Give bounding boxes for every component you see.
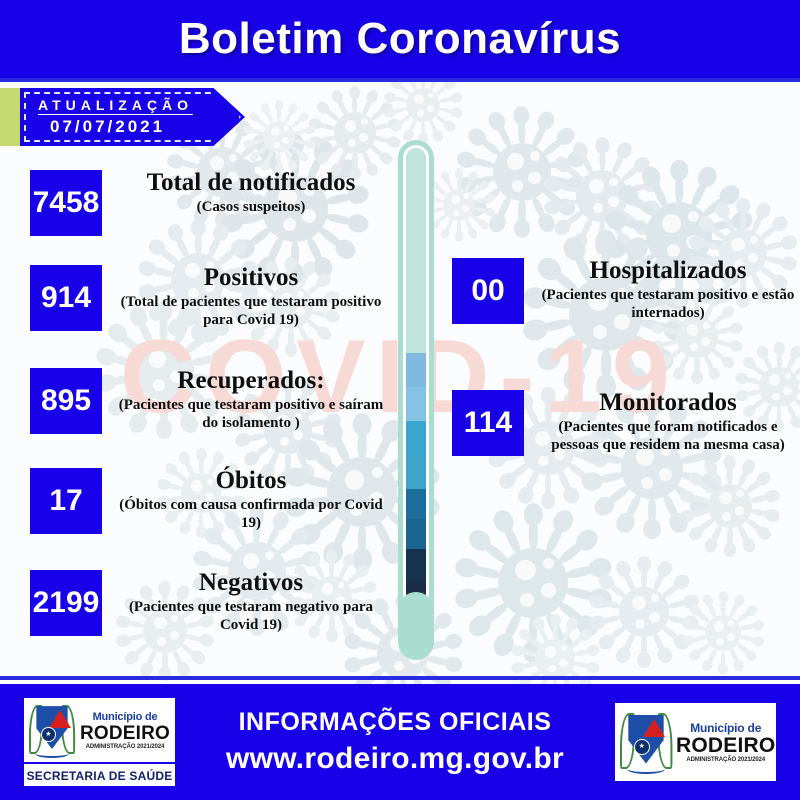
star-icon: ★ bbox=[41, 727, 56, 742]
update-badge-accent-bar bbox=[0, 88, 20, 146]
virus-particle-icon bbox=[470, 520, 596, 646]
thermometer-bulb bbox=[398, 592, 434, 660]
stat-value: 895 bbox=[30, 368, 102, 434]
page-title: Boletim Coronavírus bbox=[179, 14, 621, 64]
stat-label: Hospitalizados bbox=[538, 258, 798, 284]
stat-sublabel: (Total de pacientes que testaram positiv… bbox=[116, 294, 386, 329]
virus-particle-icon bbox=[318, 96, 392, 170]
virus-particle-icon bbox=[690, 466, 770, 546]
star-icon: ★ bbox=[634, 739, 651, 756]
logo-municipio-rodeiro: ★ Município de RODEIRO ADMINISTRAÇÃO 202… bbox=[613, 701, 778, 783]
stat-sublabel: (Casos suspeitos) bbox=[116, 199, 386, 217]
footer-website-url[interactable]: www.rodeiro.mg.gov.br bbox=[177, 741, 613, 777]
coat-of-arms-icon: ★ bbox=[620, 710, 672, 776]
stat-label: Total de notificados bbox=[116, 170, 386, 196]
stat-value: 114 bbox=[452, 390, 524, 456]
stat-value: 00 bbox=[452, 258, 524, 324]
header-bar: Boletim Coronavírus bbox=[0, 0, 800, 78]
stat-sublabel: (Pacientes que foram notificados e pesso… bbox=[538, 419, 798, 454]
stat-label: Óbitos bbox=[116, 468, 386, 494]
stat-recuperados: 895 Recuperados: (Pacientes que testaram… bbox=[30, 368, 386, 434]
thermometer-fill-light bbox=[406, 148, 426, 353]
logo-municipio-label: Município de bbox=[676, 722, 775, 734]
update-date: 07/07/2021 bbox=[38, 118, 165, 137]
thermometer-segment bbox=[406, 455, 426, 489]
header-divider bbox=[0, 78, 800, 82]
logo-city-name: RODEIRO bbox=[79, 724, 171, 743]
footer-bar: ★ Município de RODEIRO ADMINISTRAÇÃO 202… bbox=[0, 684, 800, 800]
triangle-icon bbox=[643, 719, 665, 737]
thermometer-segment bbox=[406, 489, 426, 519]
coat-of-arms-icon: ★ bbox=[29, 702, 75, 760]
thermometer-segment bbox=[406, 549, 426, 581]
logo-administration-label: ADMINISTRAÇÃO 2021/2024 bbox=[676, 757, 775, 763]
logo-city-name: RODEIRO bbox=[676, 735, 775, 756]
stat-negativos: 2199 Negativos (Pacientes que testaram n… bbox=[30, 570, 386, 636]
stat-hospitalizados: 00 Hospitalizados (Pacientes que testara… bbox=[452, 258, 798, 324]
stat-value: 7458 bbox=[30, 170, 102, 236]
footer-official-info-label: INFORMAÇÕES OFICIAIS bbox=[177, 707, 613, 738]
footer-divider bbox=[0, 676, 800, 680]
logo-department-label: SECRETARIA DE SAÚDE bbox=[24, 764, 175, 788]
stat-positivos: 914 Positivos (Total de pacientes que te… bbox=[30, 265, 386, 331]
update-label: ATUALIZAÇÃO bbox=[38, 97, 193, 115]
logo-administration-label: ADMINISTRAÇÃO 2021/2024 bbox=[79, 744, 171, 750]
thermometer-segment bbox=[406, 421, 426, 455]
thermometer-tube-inner bbox=[403, 145, 429, 635]
stat-value: 914 bbox=[30, 265, 102, 331]
stat-value: 17 bbox=[30, 468, 102, 534]
triangle-icon bbox=[49, 710, 71, 728]
stat-value: 2199 bbox=[30, 570, 102, 636]
virus-particle-icon bbox=[250, 108, 308, 166]
virus-particle-icon bbox=[392, 74, 454, 136]
logo-municipio-label: Município de bbox=[79, 712, 171, 723]
stat-sublabel: (Óbitos com causa confirmada por Covid 1… bbox=[116, 497, 386, 532]
virus-particle-icon bbox=[430, 176, 488, 234]
stat-sublabel: (Pacientes que testaram positivo e estão… bbox=[538, 287, 798, 322]
stat-monitorados: 114 Monitorados (Pacientes que foram not… bbox=[452, 390, 798, 456]
stat-total-notificados: 7458 Total de notificados (Casos suspeit… bbox=[30, 170, 386, 236]
stat-label: Negativos bbox=[116, 570, 386, 596]
virus-particle-icon bbox=[690, 600, 756, 666]
thermometer-segment bbox=[406, 519, 426, 549]
stat-label: Recuperados: bbox=[116, 368, 386, 394]
thermometer-tube bbox=[398, 140, 434, 640]
update-badge: ATUALIZAÇÃO 07/07/2021 bbox=[0, 88, 245, 146]
stat-label: Positivos bbox=[116, 265, 386, 291]
thermometer-segment bbox=[406, 353, 426, 387]
footer-info: INFORMAÇÕES OFICIAIS www.rodeiro.mg.gov.… bbox=[177, 707, 613, 776]
virus-particle-icon bbox=[600, 568, 688, 656]
stat-sublabel: (Pacientes que testaram positivo e saíra… bbox=[116, 397, 386, 432]
stat-obitos: 17 Óbitos (Óbitos com causa confirmada p… bbox=[30, 468, 386, 534]
crest-base bbox=[627, 764, 664, 774]
covid-bulletin-poster: COVID-19 Boletim Coronavírus ATUALIZAÇÃO… bbox=[0, 0, 800, 800]
stat-label: Monitorados bbox=[538, 390, 798, 416]
stat-sublabel: (Pacientes que testaram negativo para Co… bbox=[116, 599, 386, 634]
thermometer-segment bbox=[406, 387, 426, 421]
logo-secretaria-saude: ★ Município de RODEIRO ADMINISTRAÇÃO 202… bbox=[22, 696, 177, 788]
crest-base bbox=[35, 749, 68, 758]
thermometer-graphic bbox=[398, 140, 434, 660]
update-badge-arrow: ATUALIZAÇÃO 07/07/2021 bbox=[20, 88, 245, 146]
